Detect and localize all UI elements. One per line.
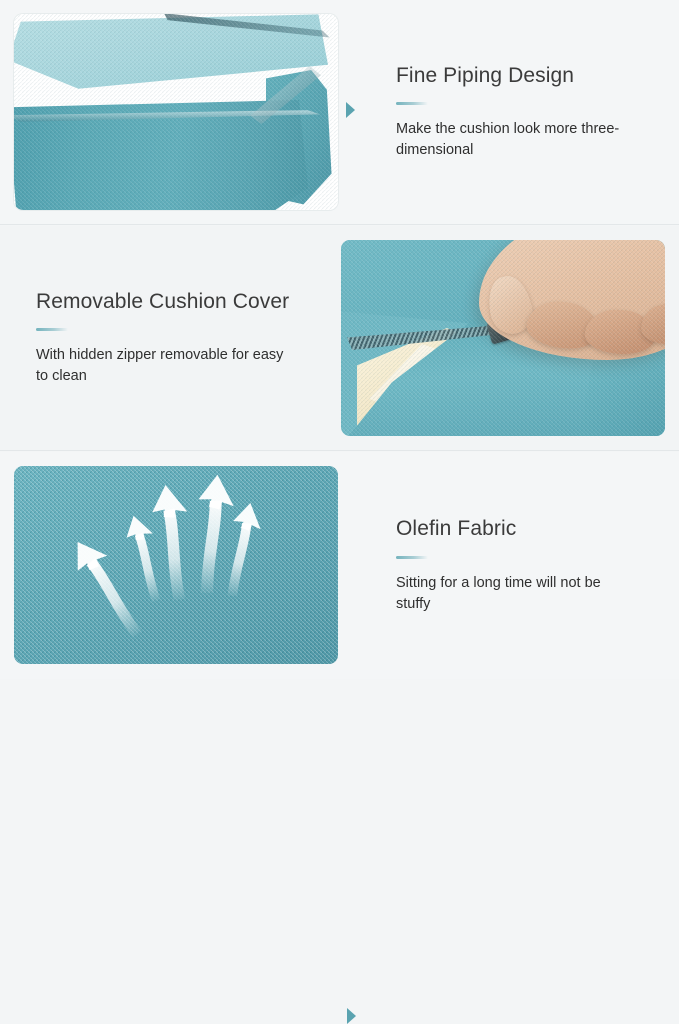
heading-accent-rule (396, 556, 428, 559)
panel-pointer-triangle-icon (346, 102, 355, 118)
panel-body: With hidden zipper removable for easy to… (36, 345, 294, 387)
cushion-corner-photo (14, 14, 338, 210)
panel-divider (0, 224, 679, 225)
airflow-arrow-icon (121, 512, 171, 604)
panel-pointer-triangle-icon (347, 1008, 356, 1024)
feature-panel-olefin-fabric: Olefin Fabric Sitting for a long time wi… (0, 452, 679, 679)
zipper-hand-photo (341, 240, 665, 436)
panel-heading: Fine Piping Design (396, 63, 657, 89)
feature-text-removable-cover: Removable Cushion Cover With hidden zipp… (0, 226, 341, 450)
zipper-illustration (341, 240, 665, 436)
panel-divider (0, 450, 679, 451)
airflow-arrow-icon (192, 474, 236, 595)
cushion-illustration (14, 14, 338, 210)
airflow-arrow-icon (220, 501, 264, 599)
olefin-fabric-photo (14, 466, 338, 664)
feature-text-fine-piping: Fine Piping Design Make the cushion look… (338, 0, 679, 224)
feature-panel-fine-piping: Fine Piping Design Make the cushion look… (0, 0, 679, 224)
panel-heading: Olefin Fabric (396, 516, 657, 542)
panel-heading: Removable Cushion Cover (36, 289, 303, 315)
heading-accent-rule (36, 328, 68, 331)
airflow-arrow-icon (149, 483, 199, 602)
panel-body: Sitting for a long time will not be stuf… (396, 573, 636, 615)
heading-accent-rule (396, 102, 428, 105)
panel-body: Make the cushion look more three-dimensi… (396, 119, 636, 161)
feature-panel-removable-cover: Removable Cushion Cover With hidden zipp… (0, 226, 679, 450)
infographic-page: Fine Piping Design Make the cushion look… (0, 0, 679, 679)
feature-text-olefin-fabric: Olefin Fabric Sitting for a long time wi… (338, 452, 679, 679)
airflow-arrows-group (14, 466, 338, 664)
